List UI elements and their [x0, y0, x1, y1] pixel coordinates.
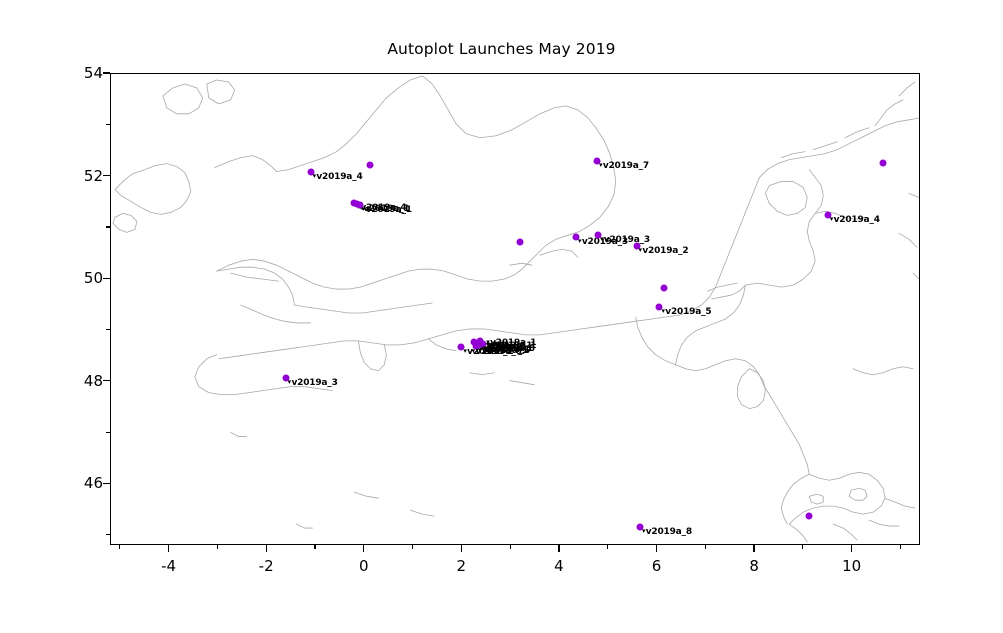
x-tick-major [753, 545, 754, 552]
figure-canvas: Autoplot Launches May 2019 [0, 0, 1003, 633]
x-tick-major [851, 545, 852, 552]
y-tick-major [103, 278, 110, 279]
x-tick-label: 6 [652, 557, 662, 575]
x-tick-minor [412, 545, 413, 549]
x-tick-label: 4 [554, 557, 564, 575]
page-title: Autoplot Launches May 2019 [0, 40, 1003, 58]
y-tick-label: 46 [84, 474, 103, 492]
x-tick-label: 2 [457, 557, 467, 575]
x-tick-label: 10 [842, 557, 861, 575]
data-point-label: v2019a_5 [661, 307, 711, 317]
data-point-marker[interactable] [517, 238, 524, 245]
x-tick-minor [705, 545, 706, 549]
x-tick-major [168, 545, 169, 552]
x-tick-minor [314, 545, 315, 549]
x-tick-label: 0 [359, 557, 369, 575]
x-tick-label: -2 [259, 557, 274, 575]
y-tick-label: 52 [84, 167, 103, 185]
x-tick-major [266, 545, 267, 552]
x-tick-minor [802, 545, 803, 549]
y-tick-label: 54 [84, 64, 103, 82]
data-point-marker[interactable] [879, 159, 886, 166]
data-point-label: v2019a_7 [599, 161, 649, 171]
x-tick-major [656, 545, 657, 552]
y-tick-label: 50 [84, 269, 103, 287]
y-tick-major [103, 175, 110, 176]
data-point-marker[interactable] [660, 285, 667, 292]
x-tick-minor [510, 545, 511, 549]
data-point-label: v2019a_4 [830, 215, 880, 225]
data-point-marker[interactable] [806, 512, 813, 519]
data-point-label: v2019a_1 [362, 205, 412, 215]
data-point-label: v2019a_8 [642, 527, 692, 537]
x-tick-minor [217, 545, 218, 549]
x-tick-major [363, 545, 364, 552]
x-tick-major [558, 545, 559, 552]
y-tick-label: 48 [84, 372, 103, 390]
x-tick-label: 8 [749, 557, 759, 575]
data-point-label: v2019a_6 [472, 347, 522, 357]
x-tick-major [461, 545, 462, 552]
data-point-label: v2019a_4 [313, 172, 363, 182]
y-tick-major [103, 380, 110, 381]
y-tick-major [103, 483, 110, 484]
data-point-label: v2019a_2 [639, 246, 689, 256]
x-tick-minor [607, 545, 608, 549]
data-point-label: v2019a_3 [600, 235, 650, 245]
x-axis-labels: -4-20246810 [0, 557, 1003, 587]
x-tick-minor [900, 545, 901, 549]
data-point-marker[interactable] [366, 161, 373, 168]
x-tick-label: -4 [161, 557, 176, 575]
y-tick-major [103, 72, 110, 73]
x-tick-minor [119, 545, 120, 549]
data-point-label: v2019a_3 [288, 378, 338, 388]
map-plot-area[interactable]: v2019a_4v2019a_4v2019a_1v2019a_1v2019a_7… [110, 73, 920, 545]
map-coastlines [111, 74, 919, 544]
y-axis-labels: 4648505254 [0, 0, 103, 633]
